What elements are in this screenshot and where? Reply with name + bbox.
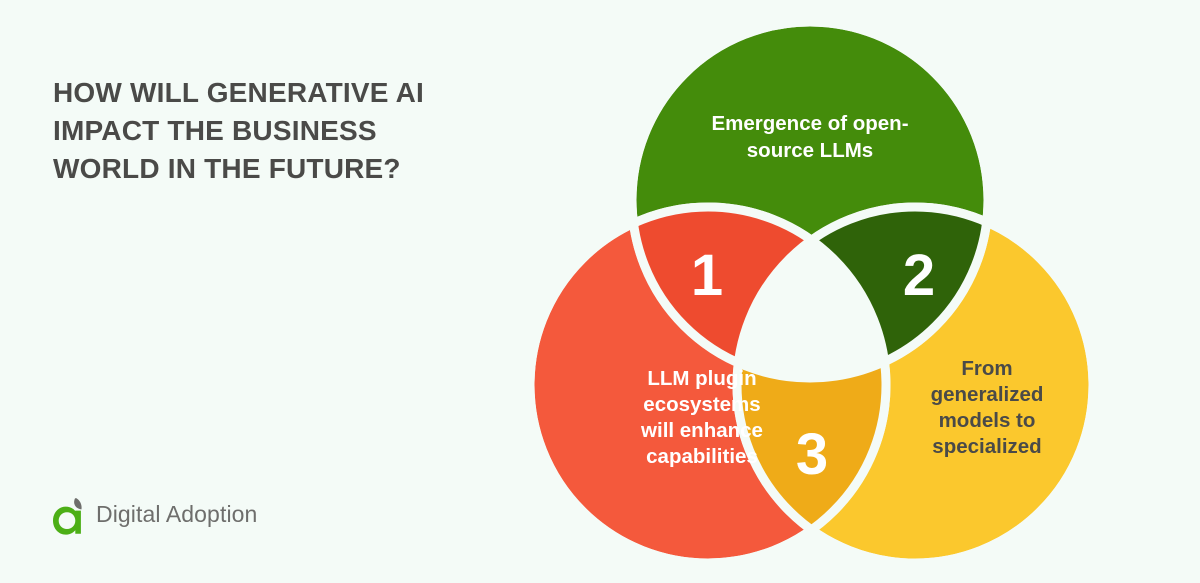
venn-number-2: 2 [903,243,935,308]
venn-number-1: 1 [691,243,723,308]
brand-wordmark: Digital Adoption [96,503,257,528]
page-title: HOW WILL GENERATIVE AI IMPACT THE BUSINE… [53,74,473,188]
venn-diagram: Emergence of open-source LLMs LLM plugin… [500,0,1200,583]
venn-number-3: 3 [796,422,828,487]
digital-adoption-a-leaf-icon [53,495,89,535]
brand-logo: Digital Adoption [53,495,257,535]
infographic-page: HOW WILL GENERATIVE AI IMPACT THE BUSINE… [0,0,1200,583]
